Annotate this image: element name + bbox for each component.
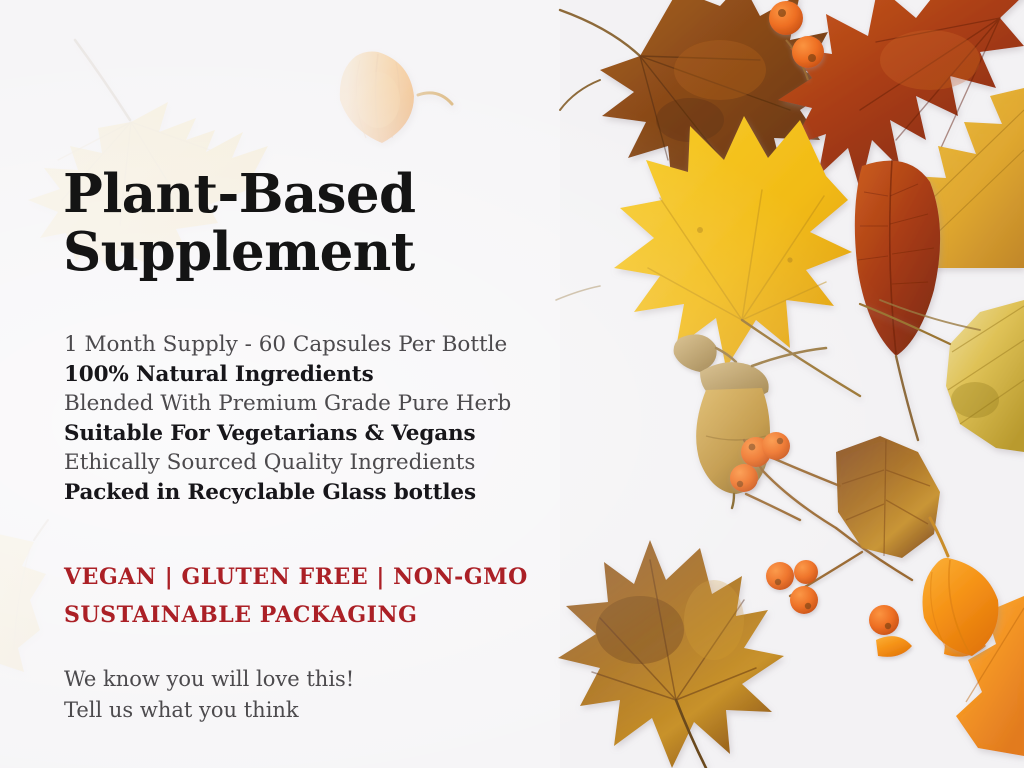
- list-item: 1 Month Supply - 60 Capsules Per Bottle: [64, 330, 584, 360]
- copy-column: Plant-Based Supplement 1 Month Supply - …: [63, 0, 583, 768]
- poster-canvas: Plant-Based Supplement 1 Month Supply - …: [0, 0, 1024, 768]
- berry: [762, 432, 790, 460]
- list-item: Ethically Sourced Quality Ingredients: [64, 448, 584, 478]
- berry: [730, 464, 758, 492]
- signoff-message: We know you will love this! Tell us what…: [64, 664, 584, 726]
- list-item: Packed in Recyclable Glass bottles: [64, 478, 584, 508]
- berry: [869, 605, 899, 635]
- claim-line-packaging: SUSTAINABLE PACKAGING: [64, 596, 584, 634]
- berry: [769, 1, 803, 35]
- berry: [794, 560, 818, 584]
- berry: [792, 36, 824, 68]
- list-item: Suitable For Vegetarians & Vegans: [64, 419, 584, 449]
- list-item: Blended With Premium Grade Pure Herb: [64, 389, 584, 419]
- claim-line-certifications: VEGAN | GLUTEN FREE | NON-GMO: [64, 558, 584, 596]
- list-item: 100% Natural Ingredients: [64, 360, 584, 390]
- feature-list: 1 Month Supply - 60 Capsules Per Bottle …: [64, 330, 584, 508]
- page-title: Plant-Based Supplement: [63, 166, 416, 282]
- berry: [766, 562, 794, 590]
- berry: [790, 586, 818, 614]
- certification-claims: VEGAN | GLUTEN FREE | NON-GMO SUSTAINABL…: [64, 558, 584, 634]
